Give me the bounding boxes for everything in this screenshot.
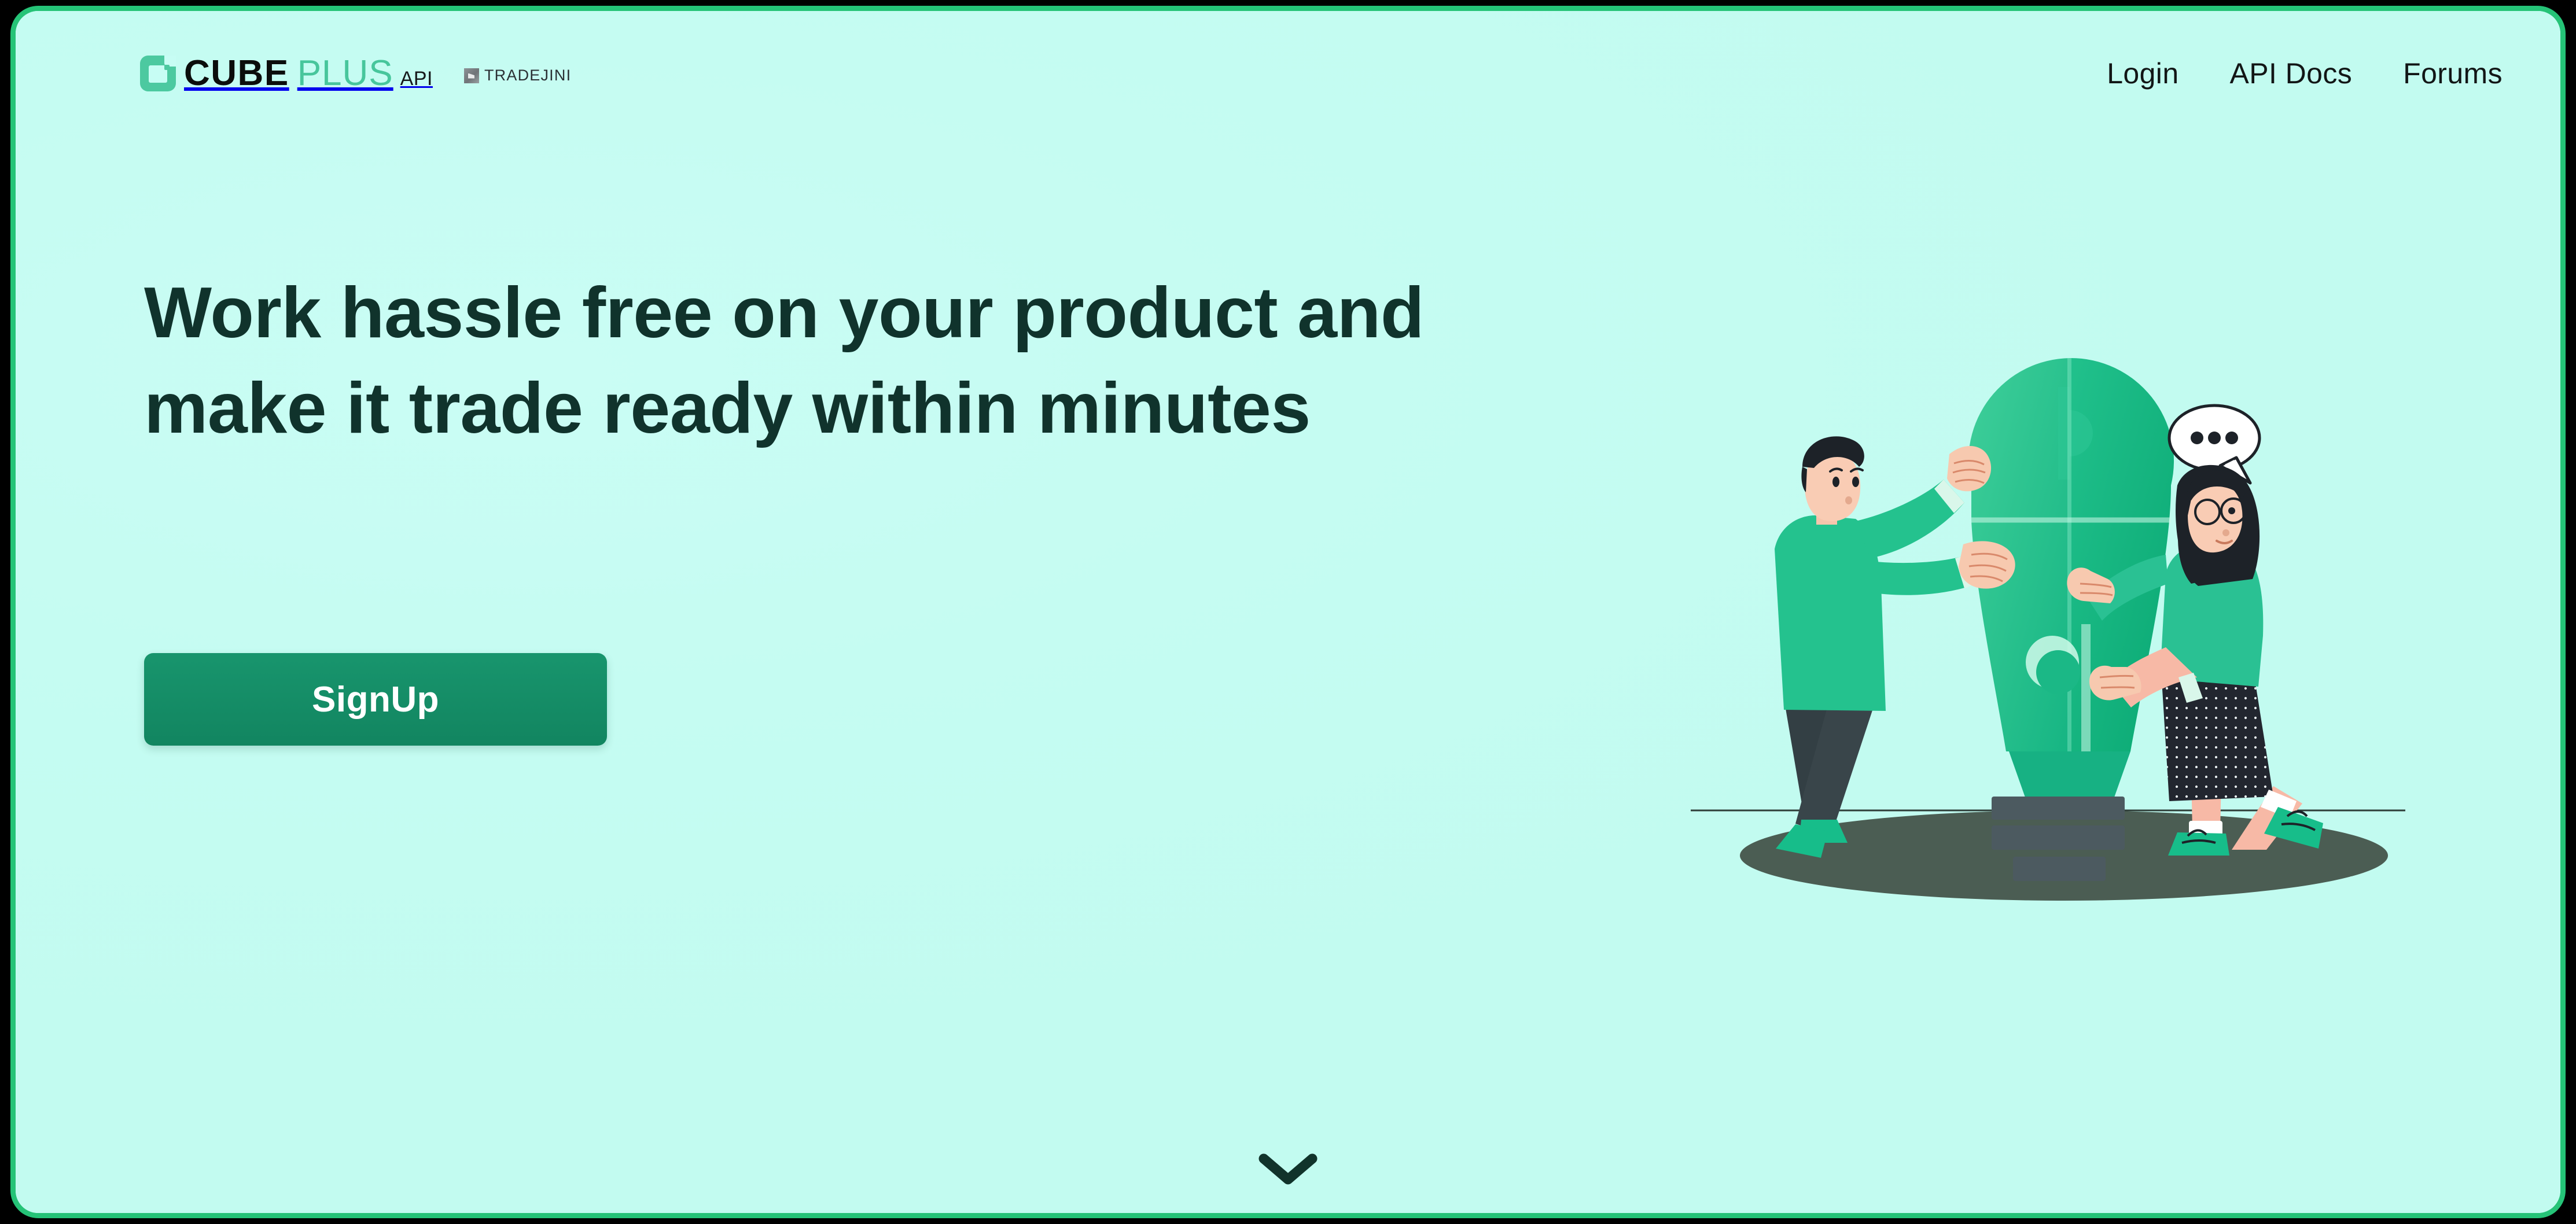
hero-illustration: [1682, 312, 2457, 908]
top-navigation-bar: CUBE PLUS API TRADEJINI Login API Docs F…: [16, 11, 2560, 135]
page-title: Work hassle free on your product and mak…: [144, 266, 1591, 456]
tradejini-mark-icon: [464, 68, 479, 83]
hero-copy: Work hassle free on your product and mak…: [144, 266, 1591, 456]
tradejini-name: TRADEJINI: [484, 67, 571, 84]
nav-link-api-docs[interactable]: API Docs: [2230, 57, 2353, 90]
headline-line-2: make it trade ready within minutes: [144, 361, 1591, 456]
signup-button[interactable]: SignUp: [144, 653, 607, 746]
logo-plus-text: PLUS: [297, 56, 393, 91]
logo-api-text: API: [400, 69, 433, 89]
cubeplus-logo[interactable]: CUBE PLUS API: [140, 56, 433, 91]
nav-link-forums[interactable]: Forums: [2403, 57, 2503, 90]
nav-links: Login API Docs Forums: [2107, 57, 2526, 90]
logo-cube-text: CUBE: [184, 56, 289, 91]
page-frame: CUBE PLUS API TRADEJINI Login API Docs F…: [10, 6, 2566, 1218]
headline-line-1: Work hassle free on your product and: [144, 266, 1591, 361]
nav-link-login[interactable]: Login: [2107, 57, 2178, 90]
brand-block: CUBE PLUS API TRADEJINI: [140, 56, 571, 91]
cube-logo-icon: [140, 56, 176, 91]
chevron-down-icon[interactable]: [1253, 1148, 1323, 1189]
tradejini-partner-logo: TRADEJINI: [464, 67, 571, 84]
hero-section: CUBE PLUS API TRADEJINI Login API Docs F…: [16, 11, 2560, 1213]
